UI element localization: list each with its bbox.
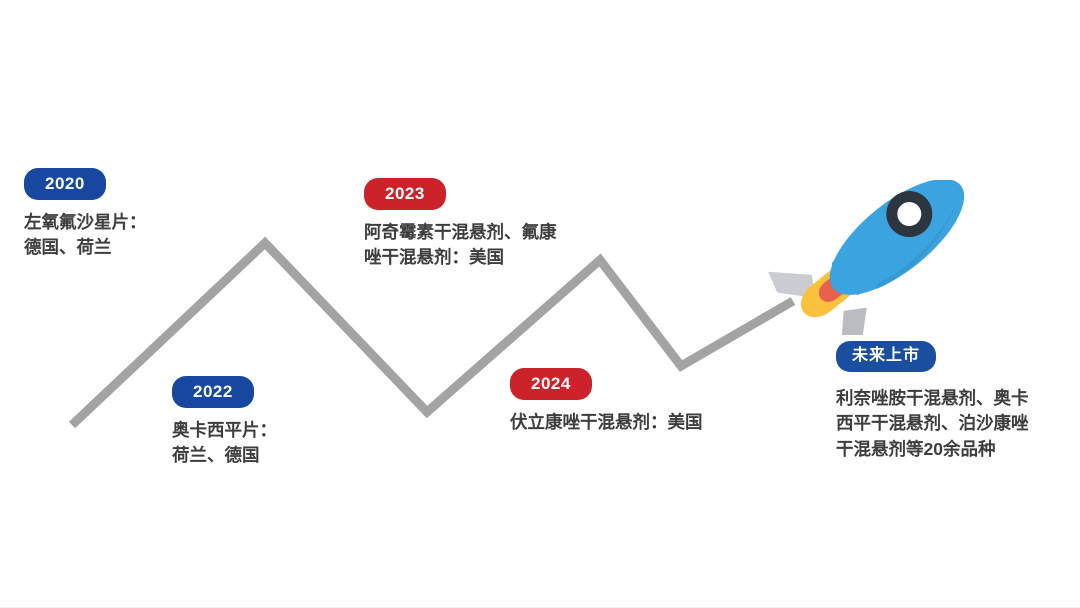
milestone-2024: 2024 伏立康唑干混悬剂：美国 <box>510 368 703 435</box>
rocket-icon <box>755 180 1000 335</box>
milestone-2020: 2020 左氧氟沙星片： 德国、荷兰 <box>24 168 147 260</box>
infographic-canvas: 2020 左氧氟沙星片： 德国、荷兰 2022 奥卡西平片： 荷兰、德国 202… <box>0 0 1080 608</box>
milestone-2023-badge[interactable]: 2023 <box>364 178 446 210</box>
milestone-2020-caption: 左氧氟沙星片： 德国、荷兰 <box>24 210 147 260</box>
milestone-2020-badge[interactable]: 2020 <box>24 168 106 200</box>
milestone-2023-caption: 阿奇霉素干混悬剂、氟康 唑干混悬剂：美国 <box>364 220 557 270</box>
milestone-2022-caption: 奥卡西平片： 荷兰、德国 <box>172 418 277 468</box>
milestone-2022: 2022 奥卡西平片： 荷兰、德国 <box>172 376 277 468</box>
milestone-2022-badge[interactable]: 2022 <box>172 376 254 408</box>
milestone-2024-badge[interactable]: 2024 <box>510 368 592 400</box>
milestone-2024-caption: 伏立康唑干混悬剂：美国 <box>510 410 703 435</box>
milestone-2023: 2023 阿奇霉素干混悬剂、氟康 唑干混悬剂：美国 <box>364 178 557 270</box>
milestone-future-caption: 利奈唑胺干混悬剂、奥卡 西平干混悬剂、泊沙康唑 干混悬剂等20余品种 <box>836 386 1029 462</box>
milestone-future-badge[interactable]: 未来上市 <box>836 341 936 372</box>
milestone-future: 未来上市 利奈唑胺干混悬剂、奥卡 西平干混悬剂、泊沙康唑 干混悬剂等20余品种 <box>836 341 1029 462</box>
